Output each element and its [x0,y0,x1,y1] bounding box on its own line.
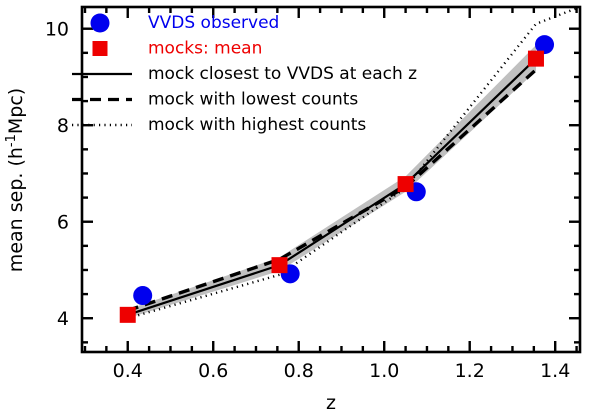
x-axis-title: z [326,392,336,414]
mock-mean-point [271,257,287,273]
legend-label: mock with highest counts [148,115,366,135]
y-tick-label: 6 [57,212,69,234]
x-tick-label: 1.2 [455,360,485,382]
mock-mean-point [398,176,414,192]
x-tick-label: 1.4 [540,360,570,382]
chart-background [0,0,600,418]
y-axis-title-group: mean sep. (h-1Mpc) [4,88,27,272]
legend-swatch-circle-marker [91,14,110,33]
x-tick-label: 0.8 [284,360,314,382]
legend-label: mock with lowest counts [148,90,358,110]
y-tick-label: 4 [57,308,69,330]
legend-label: mock closest to VVDS at each z [148,64,417,84]
x-tick-label: 1.0 [369,360,399,382]
chart-figure: 0.40.60.81.01.21.446810 z mean sep. (h-1… [0,0,600,418]
vvds-observed-point [133,286,152,305]
x-tick-label: 0.6 [198,360,228,382]
mean-separation-vs-redshift-chart: 0.40.60.81.01.21.446810 z mean sep. (h-1… [0,0,600,418]
mock-mean-point [528,51,544,67]
x-tick-label: 0.4 [113,360,143,382]
legend-swatch-square-marker [93,41,108,56]
y-tick-label: 8 [57,115,69,137]
legend-label: VVDS observed [148,13,279,33]
y-axis-title: mean sep. (h-1Mpc) [4,88,27,272]
y-tick-label: 10 [45,19,69,41]
legend-label: mocks: mean [148,39,262,59]
mock-mean-point [120,307,136,323]
